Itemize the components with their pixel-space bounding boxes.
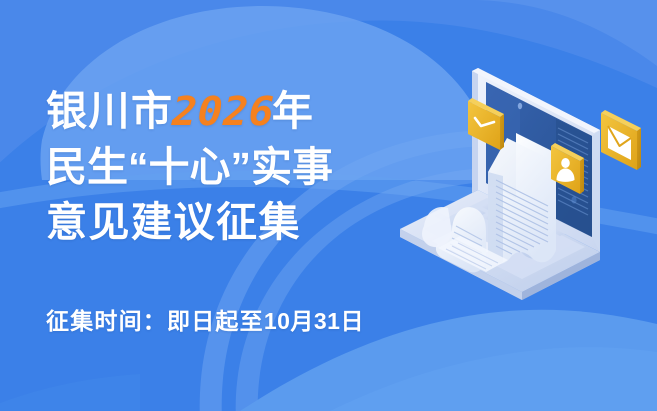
collection-announcement-banner: 银川市2026年 民生“十心”实事 意见建议征集 征集时间：即日起至10月31日 <box>0 0 657 411</box>
title-line-1-suffix: 年 <box>272 88 315 134</box>
title-line-3: 意见建议征集 <box>46 195 466 250</box>
title-line-1: 银川市2026年 <box>46 84 466 140</box>
title-line-2: 民生“十心”实事 <box>46 140 466 195</box>
title-year: 2026 <box>171 85 275 140</box>
collection-period: 征集时间：即日起至10月31日 <box>46 302 364 336</box>
collection-period-date: 10月31日 <box>264 308 364 334</box>
collection-period-label: 征集时间：即日起至 <box>46 308 264 334</box>
title-line-1-prefix: 银川市 <box>46 88 174 134</box>
page-title: 银川市2026年 民生“十心”实事 意见建议征集 <box>46 84 466 250</box>
text-layer: 银川市2026年 民生“十心”实事 意见建议征集 征集时间：即日起至10月31日 <box>0 0 657 411</box>
